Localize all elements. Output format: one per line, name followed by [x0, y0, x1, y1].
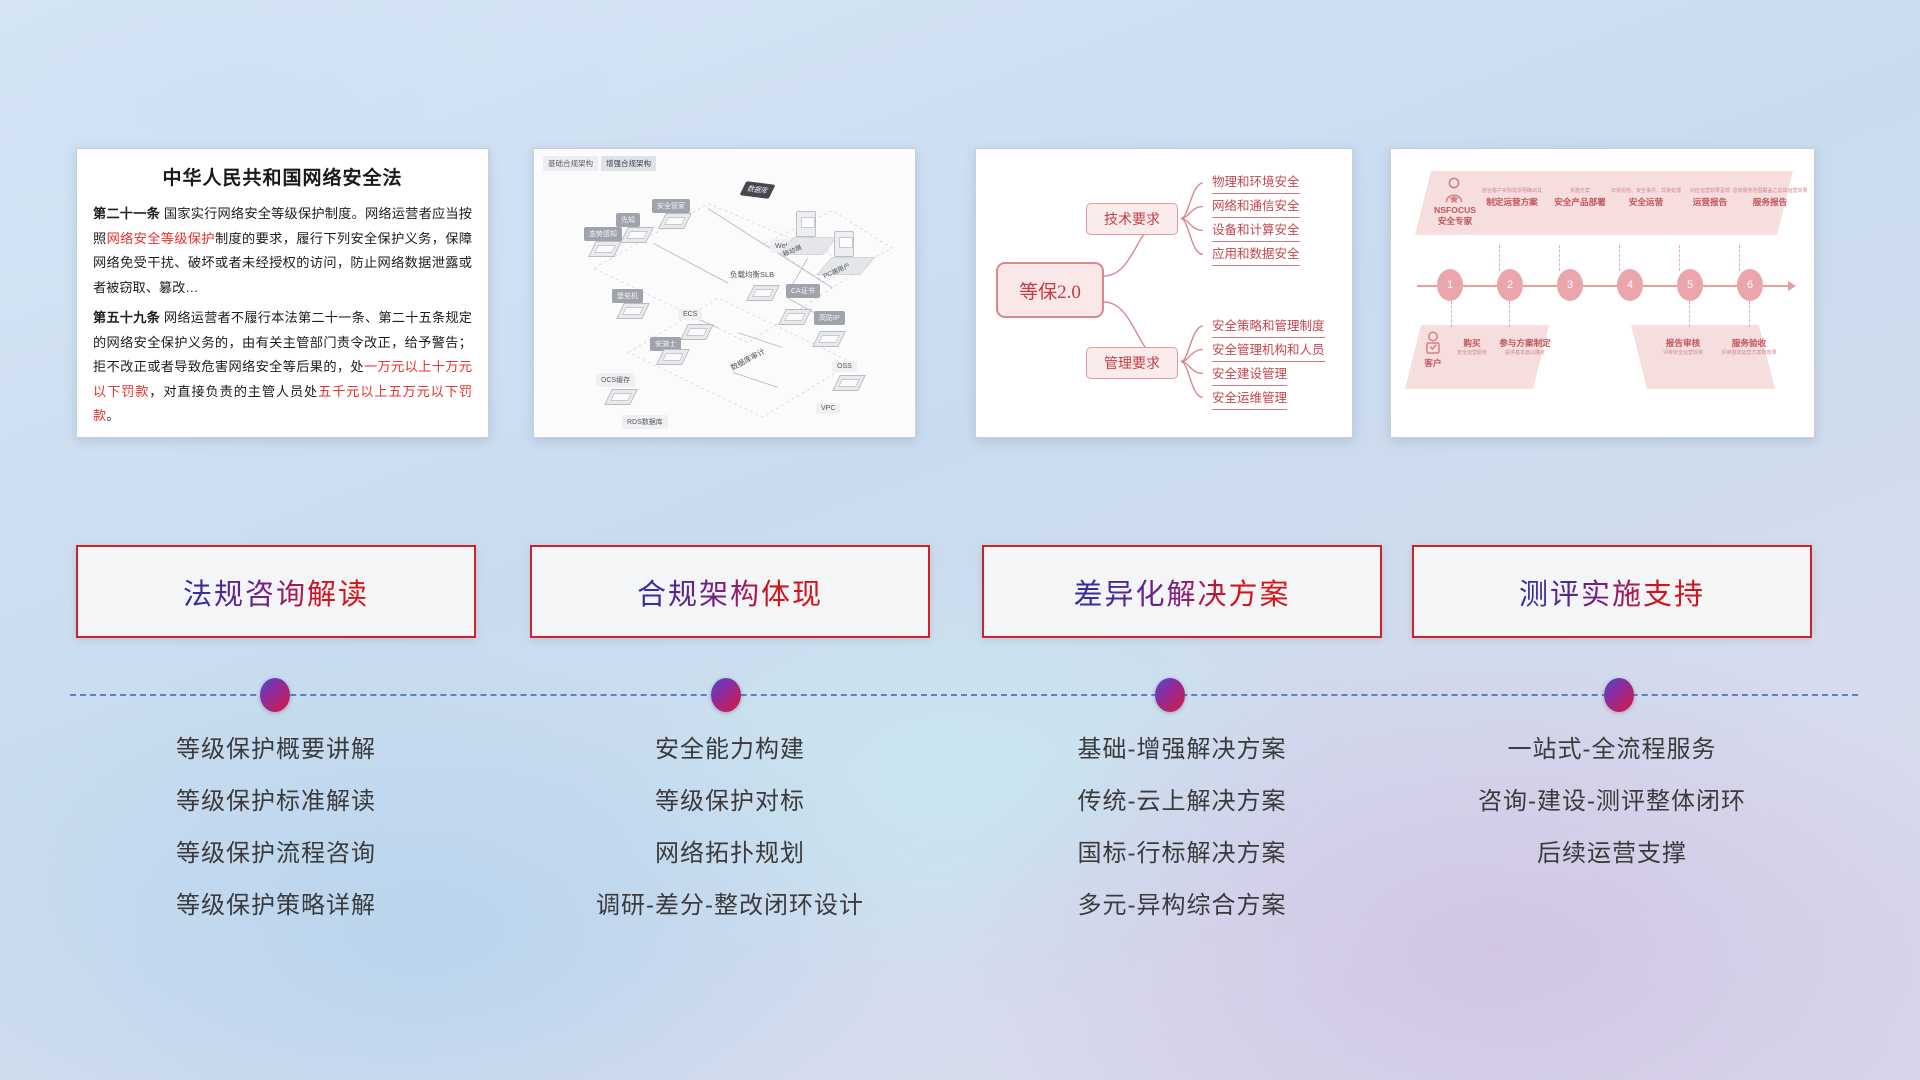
law-highlight-text: 网络安全等级保护	[107, 231, 215, 246]
step-number-6: 6	[1737, 269, 1763, 301]
card-cloud-architecture: 基础合规架构 增强合规架构	[533, 148, 916, 438]
node-label-slb: 负载均衡SLB	[730, 269, 774, 280]
law-body-text: ，对直接负责的主管人员处	[149, 384, 318, 399]
vendor-step-1: 结合客户实际需求明确出具 制定运营方案	[1473, 187, 1551, 208]
section-banner-row: 法规咨询解读 合规架构体现 差异化解决方案 测评实施支持	[0, 545, 1920, 645]
mindmap-leaf-network-comm: 网络和通信安全	[1212, 195, 1300, 218]
banner-assessment-support[interactable]: 测评实施支持	[1412, 545, 1812, 638]
mindmap-leaf-construction-mgmt: 安全建设管理	[1212, 363, 1287, 386]
step-number-5: 5	[1677, 269, 1703, 301]
node-label-ecs: ECS	[678, 309, 702, 320]
timeline-dot-2	[711, 678, 741, 712]
node-label-ca-cert: CA证书	[786, 284, 820, 298]
banner-regulation-consulting[interactable]: 法规咨询解读	[76, 545, 476, 638]
vendor-person-icon	[1443, 177, 1465, 208]
timeline-dot-1	[260, 678, 290, 712]
vendor-role-label: NSFOCUS 安全专家	[1425, 205, 1485, 227]
detail-column-row: 等级保护概要讲解等级保护标准解读等级保护流程咨询等级保护策略详解 安全能力构建等…	[0, 738, 1920, 998]
connector-7	[1509, 301, 1510, 327]
mindmap-branch-management: 管理要求	[1086, 347, 1178, 379]
detail-item: 等级保护对标	[530, 790, 930, 814]
mindmap-leaf-app-data: 应用和数据安全	[1212, 243, 1300, 266]
banner-label-2: 合规架构体现	[637, 571, 823, 613]
expert-icon	[1443, 177, 1465, 203]
detail-item: 调研-差分-整改闭环设计	[530, 894, 930, 918]
vendor-step-5: 总体服务范围覆盖之总体运营效果 服务报告	[1731, 187, 1809, 208]
architecture-diagram: 基础合规架构 增强合规架构	[534, 149, 915, 437]
law-article-list: 第二十一条 国家实行网络安全等级保护制度。网络运营者应当按照网络安全等级保护制度…	[93, 202, 472, 429]
slide-canvas: 中华人民共和国网络安全法 第二十一条 国家实行网络安全等级保护制度。网络运营者应…	[0, 0, 1920, 1080]
timeline-dot-4	[1604, 678, 1634, 712]
card-cybersecurity-law: 中华人民共和国网络安全法 第二十一条 国家实行网络安全等级保护制度。网络运营者应…	[76, 148, 489, 438]
node-label-oss: OSS	[832, 361, 857, 372]
connector-5	[1739, 245, 1740, 271]
law-article-label: 第五十九条	[93, 310, 160, 325]
dashed-timeline	[70, 694, 1858, 696]
detail-column-3: 基础-增强解决方案传统-云上解决方案国标-行标解决方案多元-异构综合方案	[982, 738, 1382, 946]
detail-item: 等级保护策略详解	[76, 894, 476, 918]
banner-differentiated-solution[interactable]: 差异化解决方案	[982, 545, 1382, 638]
mindmap-branch-technical: 技术要求	[1086, 203, 1178, 235]
connector-2	[1559, 245, 1560, 271]
node-icon-pc	[834, 231, 854, 257]
customer-step-service-acceptance: 服务验收 评审整体运营方案和效果	[1709, 337, 1789, 358]
banner-label-4: 测评实施支持	[1519, 571, 1705, 613]
detail-item: 多元-异构综合方案	[982, 894, 1382, 918]
node-icon-mobile	[796, 211, 816, 237]
detail-item: 国标-行标解决方案	[982, 842, 1382, 866]
detail-item: 一站式-全流程服务	[1412, 738, 1812, 762]
customer-step-plan-participation: 参与方案制定 提供基本面以确定	[1487, 337, 1563, 358]
step-number-2: 2	[1497, 269, 1523, 301]
node-label-anti-ddos-ip: 高防IP	[814, 311, 845, 325]
detail-column-4: 一站式-全流程服务咨询-建设-测评整体闭环后续运营支撑	[1412, 738, 1812, 894]
customer-icon	[1423, 331, 1443, 355]
connector-6	[1451, 301, 1452, 327]
node-label-rds-database: RDS数据库	[622, 415, 668, 429]
law-body-text: 。	[106, 408, 119, 423]
process-axis	[1417, 285, 1789, 287]
step-number-1: 1	[1437, 269, 1463, 301]
connector-4	[1679, 245, 1680, 271]
node-label-xianzhi: 先知	[616, 213, 640, 227]
banner-label-1: 法规咨询解读	[183, 571, 369, 613]
connector-3	[1619, 245, 1620, 271]
node-label-vpc: VPC	[816, 403, 840, 414]
banner-compliance-architecture[interactable]: 合规架构体现	[530, 545, 930, 638]
detail-item: 等级保护概要讲解	[76, 738, 476, 762]
node-label-situational-awareness: 态势感知	[584, 227, 622, 241]
mindmap-leaf-physical-env: 物理和环境安全	[1212, 171, 1300, 194]
law-article: 第二十一条 国家实行网络安全等级保护制度。网络运营者应当按照网络安全等级保护制度…	[93, 202, 472, 300]
connector-8	[1689, 301, 1690, 327]
connector-9	[1749, 301, 1750, 327]
timeline-dot-3	[1155, 678, 1185, 712]
card-dengbao-mindmap: 等保2.0 技术要求 物理和环境安全 网络和通信安全 设备和计算安全 应用和数据…	[975, 148, 1353, 438]
card-service-process: NSFOCUS 安全专家 结合客户实际需求明确出具 制定运营方案 实施方案 安全…	[1390, 148, 1815, 438]
architecture-connectors	[534, 149, 915, 437]
detail-item: 基础-增强解决方案	[982, 738, 1382, 762]
customer-role-label: 客户	[1417, 357, 1449, 369]
mindmap: 等保2.0 技术要求 物理和环境安全 网络和通信安全 设备和计算安全 应用和数据…	[976, 149, 1352, 437]
detail-column-1: 等级保护概要讲解等级保护标准解读等级保护流程咨询等级保护策略详解	[76, 738, 476, 946]
detail-item: 等级保护标准解读	[76, 790, 476, 814]
detail-column-2: 安全能力构建等级保护对标网络拓扑规划调研-差分-整改闭环设计	[530, 738, 930, 946]
mindmap-leaf-policy-system: 安全策略和管理制度	[1212, 315, 1325, 338]
law-document: 中华人民共和国网络安全法 第二十一条 国家实行网络安全等级保护制度。网络运营者应…	[77, 149, 488, 438]
mindmap-leaf-ops-mgmt: 安全运维管理	[1212, 387, 1287, 410]
mindmap-leaf-device-compute: 设备和计算安全	[1212, 219, 1300, 242]
node-label-ocs-cache: OCS缓存	[596, 373, 635, 387]
node-label-security-butler: 安全管家	[652, 199, 690, 213]
customer-person-icon	[1423, 331, 1443, 360]
node-label-bastion-host: 堡垒机	[612, 289, 643, 303]
detail-item: 咨询-建设-测评整体闭环	[1412, 790, 1812, 814]
detail-item: 等级保护流程咨询	[76, 842, 476, 866]
timeline-rule	[70, 694, 1858, 696]
illustration-card-row: 中华人民共和国网络安全法 第二十一条 国家实行网络安全等级保护制度。网络运营者应…	[0, 148, 1920, 448]
detail-item: 网络拓扑规划	[530, 842, 930, 866]
step-number-4: 4	[1617, 269, 1643, 301]
connector-1	[1499, 245, 1500, 271]
law-title: 中华人民共和国网络安全法	[93, 163, 472, 190]
law-article: 第五十九条 网络运营者不履行本法第二十一条、第二十五条规定的网络安全保护义务的，…	[93, 306, 472, 429]
banner-label-3: 差异化解决方案	[1073, 571, 1290, 613]
detail-item: 传统-云上解决方案	[982, 790, 1382, 814]
detail-item: 安全能力构建	[530, 738, 930, 762]
mindmap-leaf-org-personnel: 安全管理机构和人员	[1212, 339, 1325, 362]
process-timeline-graphic: NSFOCUS 安全专家 结合客户实际需求明确出具 制定运营方案 实施方案 安全…	[1391, 149, 1814, 437]
mindmap-root-node: 等保2.0	[996, 262, 1104, 318]
detail-item: 后续运营支撑	[1412, 842, 1812, 866]
law-article-label: 第二十一条	[93, 206, 160, 221]
step-number-3: 3	[1557, 269, 1583, 301]
